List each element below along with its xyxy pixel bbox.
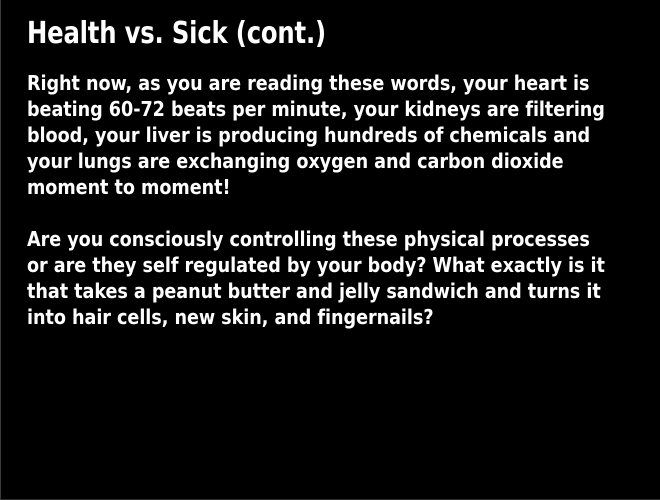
slide-body: Right now, as you are reading these word… [27,70,635,330]
slide-content: Health vs. Sick (cont.) Right now, as yo… [1,0,660,330]
page-title: Health vs. Sick (cont.) [27,0,574,49]
slide-container: Health vs. Sick (cont.) Right now, as yo… [0,0,660,500]
paragraph-2-line-1: Are you consciously controlling these ph… [27,226,608,252]
paragraph-1-line-4: your lungs are exchanging oxygen and car… [27,148,608,174]
paragraph-1-line-5: moment to moment! [27,174,608,200]
paragraph-1-line-3: blood, your liver is producing hundreds … [27,122,608,148]
paragraph-2: Are you consciously controlling these ph… [27,226,608,330]
paragraph-2-line-4: into hair cells, new skin, and fingernai… [27,304,608,330]
paragraph-2-line-2: or are they self regulated by your body?… [27,252,608,278]
paragraph-1: Right now, as you are reading these word… [27,70,608,200]
paragraph-2-line-3: that takes a peanut butter and jelly san… [27,278,608,304]
paragraph-1-line-2: beating 60-72 beats per minute, your kid… [27,96,608,122]
paragraph-1-line-1: Right now, as you are reading these word… [27,70,608,96]
